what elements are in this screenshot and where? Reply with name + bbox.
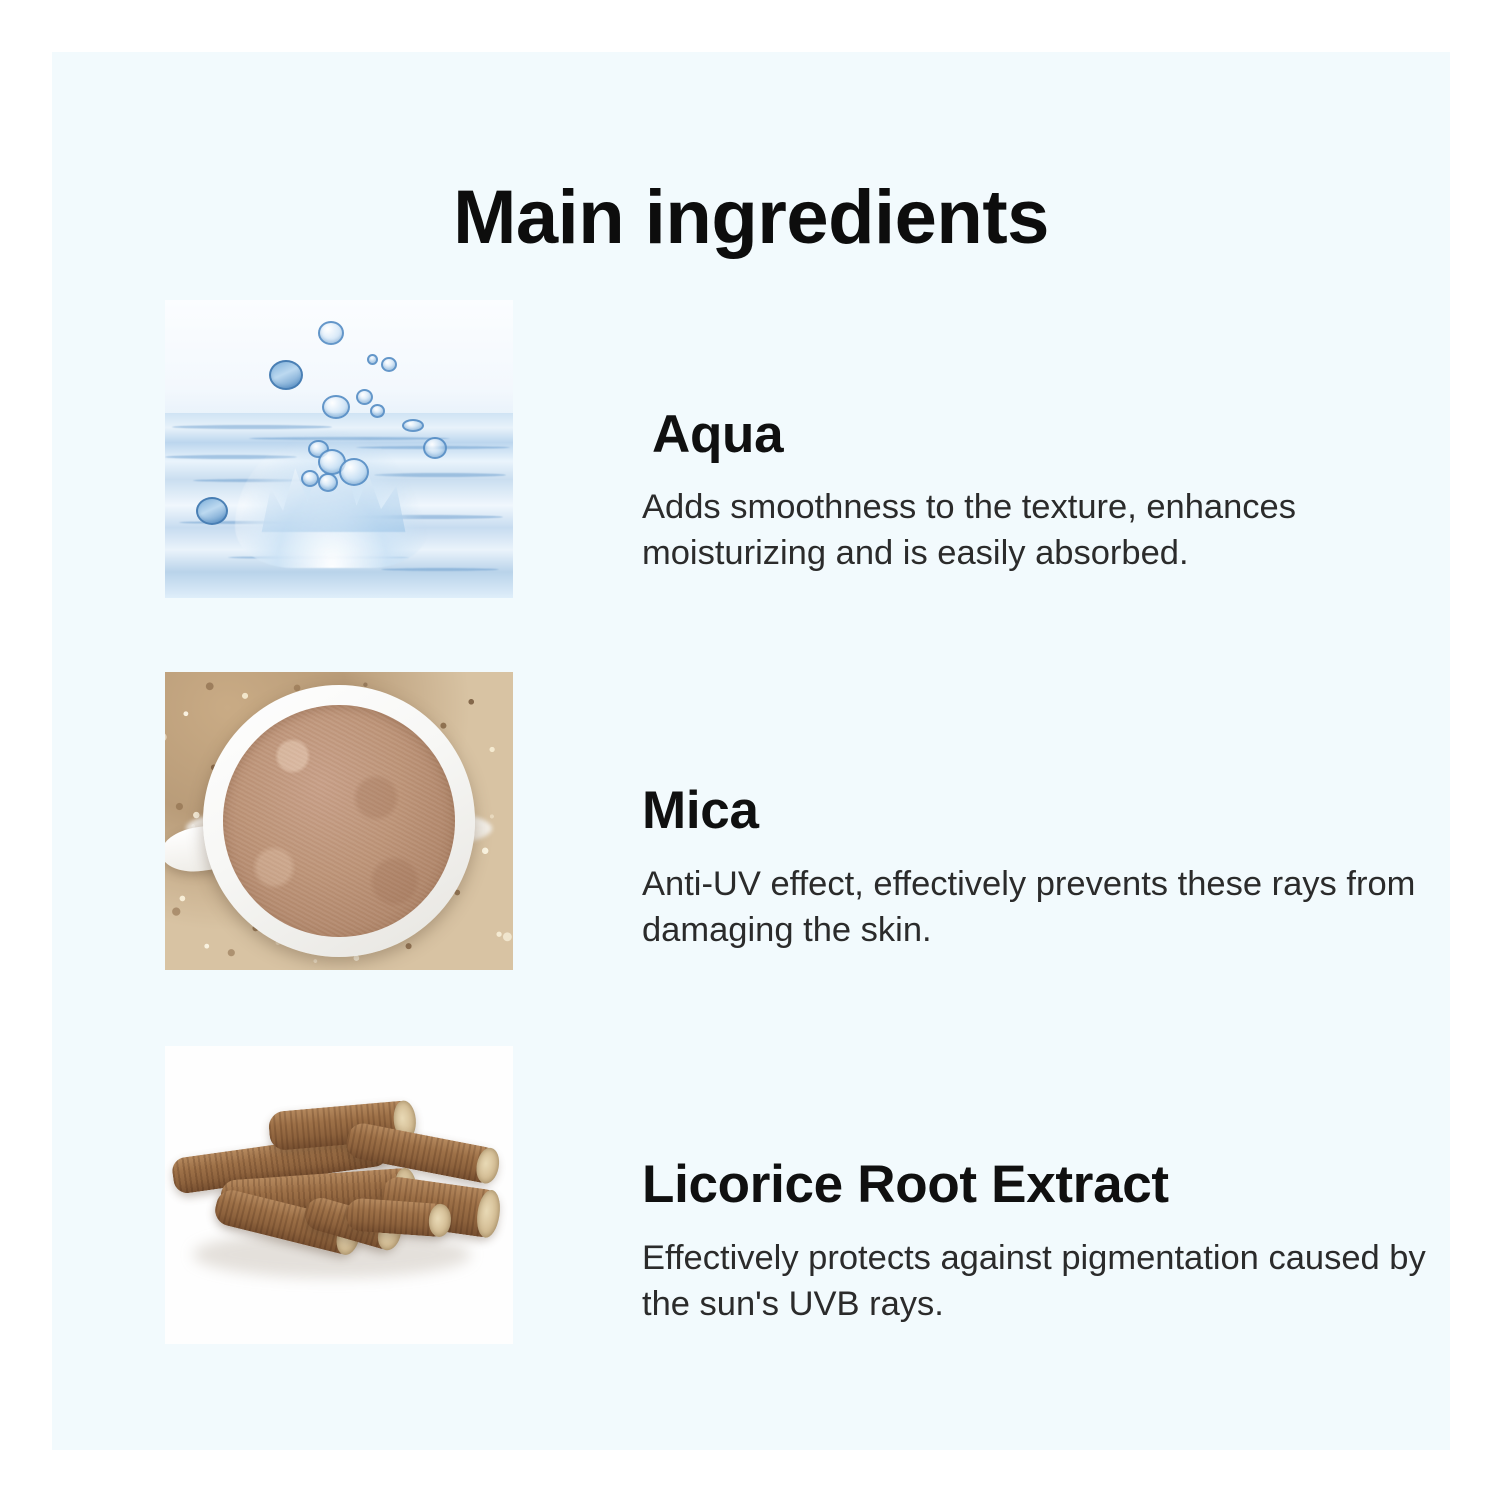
- ingredient-row-mica: Mica Anti-UV effect, effectively prevent…: [52, 672, 1450, 972]
- ingredient-row-aqua: Aqua Adds smoothness to the texture, enh…: [52, 300, 1450, 600]
- ingredient-description: Adds smoothness to the texture, enhances…: [642, 485, 1432, 576]
- mica-powder-illustration: [165, 672, 513, 970]
- water-splash-illustration: [165, 300, 513, 598]
- ingredient-name: Mica: [642, 784, 759, 837]
- ingredient-name: Aqua: [652, 408, 783, 461]
- powder-texture: [223, 705, 455, 937]
- ingredient-text-mica: Mica Anti-UV effect, effectively prevent…: [590, 672, 1400, 970]
- ingredient-name: Licorice Root Extract: [642, 1158, 1169, 1211]
- licorice-root-illustration: [165, 1046, 513, 1344]
- content-panel: Main ingredients: [52, 52, 1450, 1450]
- bowl-powder: [223, 705, 455, 937]
- ingredient-text-aqua: Aqua Adds smoothness to the texture, enh…: [590, 300, 1400, 598]
- ingredient-text-licorice-root-extract: Licorice Root Extract Effectively protec…: [590, 1046, 1400, 1344]
- ingredient-image-licorice-root: [165, 1046, 513, 1344]
- ingredient-row-licorice-root-extract: Licorice Root Extract Effectively protec…: [52, 1046, 1450, 1346]
- ingredient-description: Effectively protects against pigmentatio…: [642, 1236, 1432, 1327]
- ingredient-image-mica: [165, 672, 513, 970]
- infographic-canvas: Main ingredients: [0, 0, 1500, 1500]
- ingredient-description: Anti-UV effect, effectively prevents the…: [642, 862, 1432, 953]
- page-title: Main ingredients: [52, 180, 1450, 256]
- ingredient-image-aqua: [165, 300, 513, 598]
